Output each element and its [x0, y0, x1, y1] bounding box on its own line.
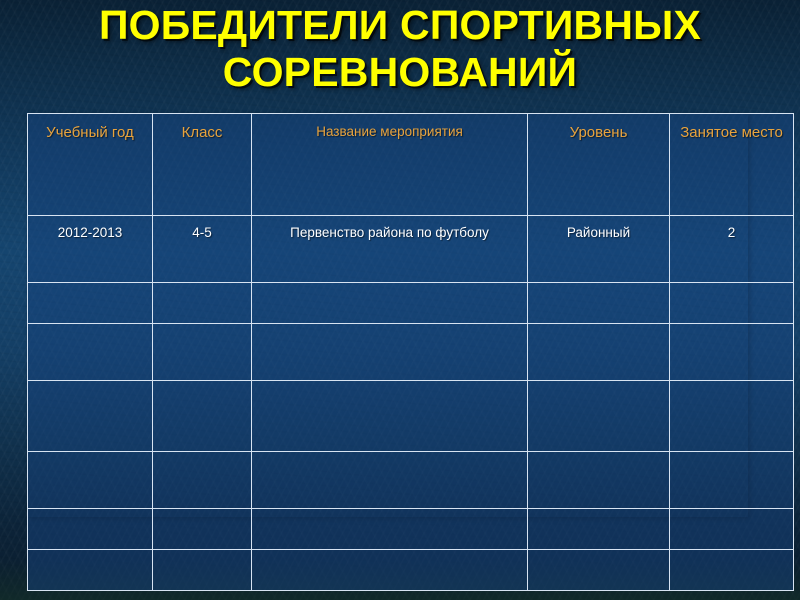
table-cell-level[interactable] — [528, 452, 670, 509]
table-cell-grade[interactable] — [153, 509, 252, 550]
table-cell-event[interactable] — [252, 324, 528, 381]
table-header-label-grade: Класс — [182, 124, 223, 141]
table-cell-value-place: 2 — [728, 225, 736, 240]
table-header-cell-level: Уровень — [528, 114, 670, 216]
table-row[interactable] — [28, 452, 794, 509]
table-cell-year[interactable] — [28, 452, 153, 509]
table-cell-event[interactable] — [252, 452, 528, 509]
table-cell-place[interactable] — [670, 509, 794, 550]
table-header-cell-event: Название мероприятия — [252, 114, 528, 216]
table-cell-level[interactable]: Районный — [528, 216, 670, 283]
table-cell-grade[interactable] — [153, 324, 252, 381]
table-cell-value-grade: 4-5 — [192, 225, 212, 240]
table-header-label-place: Занятое место — [680, 124, 783, 141]
table-cell-level[interactable] — [528, 509, 670, 550]
table-header-label-level: Уровень — [570, 124, 628, 141]
page-title: ПОБЕДИТЕЛИ СПОРТИВНЫХ СОРЕВНОВАНИЙ — [0, 2, 800, 96]
table-cell-level[interactable] — [528, 381, 670, 452]
table-cell-place[interactable] — [670, 283, 794, 324]
table-header-label-year: Учебный год — [46, 124, 134, 141]
table-header-row: Учебный год Класс Название мероприятия У… — [28, 114, 794, 216]
table-cell-level[interactable] — [528, 324, 670, 381]
table-row[interactable] — [28, 324, 794, 381]
table-header-label-event: Название мероприятия — [316, 124, 463, 139]
table-cell-year[interactable]: 2012-2013 — [28, 216, 153, 283]
table-cell-value-year: 2012-2013 — [58, 225, 123, 240]
table-row[interactable] — [28, 381, 794, 452]
table-cell-grade[interactable]: 4-5 — [153, 216, 252, 283]
table-cell-year[interactable] — [28, 324, 153, 381]
table-cell-year[interactable] — [28, 509, 153, 550]
table-cell-event[interactable] — [252, 509, 528, 550]
table-cell-place[interactable] — [670, 452, 794, 509]
results-table-container: Учебный год Класс Название мероприятия У… — [27, 113, 748, 517]
table-cell-event[interactable]: Первенство района по футболу — [252, 216, 528, 283]
table-cell-event[interactable] — [252, 381, 528, 452]
table-cell-grade[interactable] — [153, 283, 252, 324]
results-table: Учебный год Класс Название мероприятия У… — [27, 113, 794, 591]
table-header-cell-year: Учебный год — [28, 114, 153, 216]
table-cell-place[interactable] — [670, 324, 794, 381]
table-cell-level[interactable] — [528, 283, 670, 324]
table-row[interactable]: 2012-2013 4-5 Первенство района по футбо… — [28, 216, 794, 283]
table-cell-year[interactable] — [28, 550, 153, 591]
table-cell-value-level: Районный — [567, 225, 630, 240]
table-cell-level[interactable] — [528, 550, 670, 591]
table-row[interactable] — [28, 550, 794, 591]
table-cell-grade[interactable] — [153, 452, 252, 509]
table-row[interactable] — [28, 283, 794, 324]
table-header-cell-grade: Класс — [153, 114, 252, 216]
table-cell-place[interactable]: 2 — [670, 216, 794, 283]
table-cell-grade[interactable] — [153, 550, 252, 591]
table-cell-year[interactable] — [28, 283, 153, 324]
table-row[interactable] — [28, 509, 794, 550]
table-cell-place[interactable] — [670, 381, 794, 452]
table-header-cell-place: Занятое место — [670, 114, 794, 216]
table-cell-value-event: Первенство района по футболу — [290, 225, 489, 240]
table-cell-event[interactable] — [252, 550, 528, 591]
table-cell-event[interactable] — [252, 283, 528, 324]
table-cell-grade[interactable] — [153, 381, 252, 452]
table-cell-place[interactable] — [670, 550, 794, 591]
slide-canvas: ПОБЕДИТЕЛИ СПОРТИВНЫХ СОРЕВНОВАНИЙ Учебн… — [0, 0, 800, 600]
table-cell-year[interactable] — [28, 381, 153, 452]
